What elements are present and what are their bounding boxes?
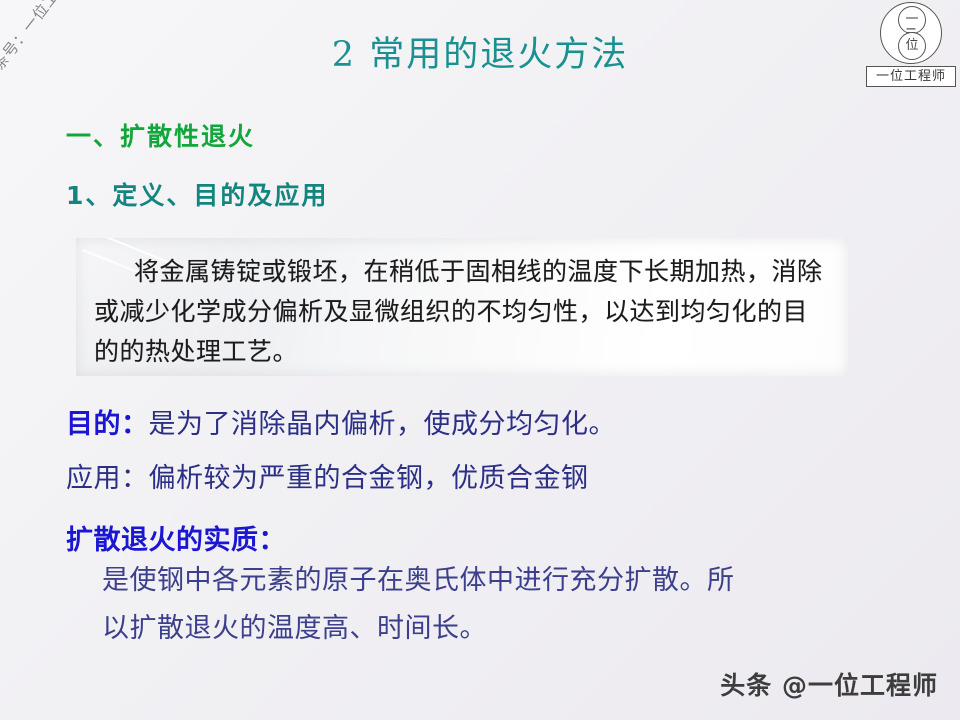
subsection-heading: 1、定义、目的及应用 [66,176,328,212]
slide-canvas: 头条号：一位工程师 一 ☲ 位 一位工程师 2 常用的退火方法 一、扩散性退火 … [0,0,960,720]
section-heading: 一、扩散性退火 [66,117,255,153]
purpose-line: 目的：是为了消除晶内偏析，使成分均匀化。 [66,400,926,450]
application-text: 偏析较为严重的合金钢，优质合金钢 [149,463,589,494]
essence-label: 扩散退火的实质： [66,518,926,557]
purpose-label: 目的： [66,409,149,440]
essence-line-2: 以扩散退火的温度高、时间长。 [102,605,926,653]
purpose-text: 是为了消除晶内偏析，使成分均匀化。 [149,409,617,440]
footer-branding: 头条 @一位工程师 [720,666,938,702]
application-line: 应用：偏析较为严重的合金钢，优质合金钢 [66,454,926,504]
application-label: 应用： [66,463,149,494]
page-title: 2 常用的退火方法 [0,26,960,77]
definition-text: 将金属铸锭或锻坯，在稍低于固相线的温度下长期加热，消除或减少化学成分偏析及显微组… [94,252,830,372]
definition-image-box: 将金属铸锭或锻坯，在稍低于固相线的温度下长期加热，消除或减少化学成分偏析及显微组… [76,238,848,376]
body-content: 目的：是为了消除晶内偏析，使成分均匀化。 应用：偏析较为严重的合金钢，优质合金钢… [66,400,926,653]
essence-line-1: 是使钢中各元素的原子在奥氏体中进行充分扩散。所 [102,557,926,605]
